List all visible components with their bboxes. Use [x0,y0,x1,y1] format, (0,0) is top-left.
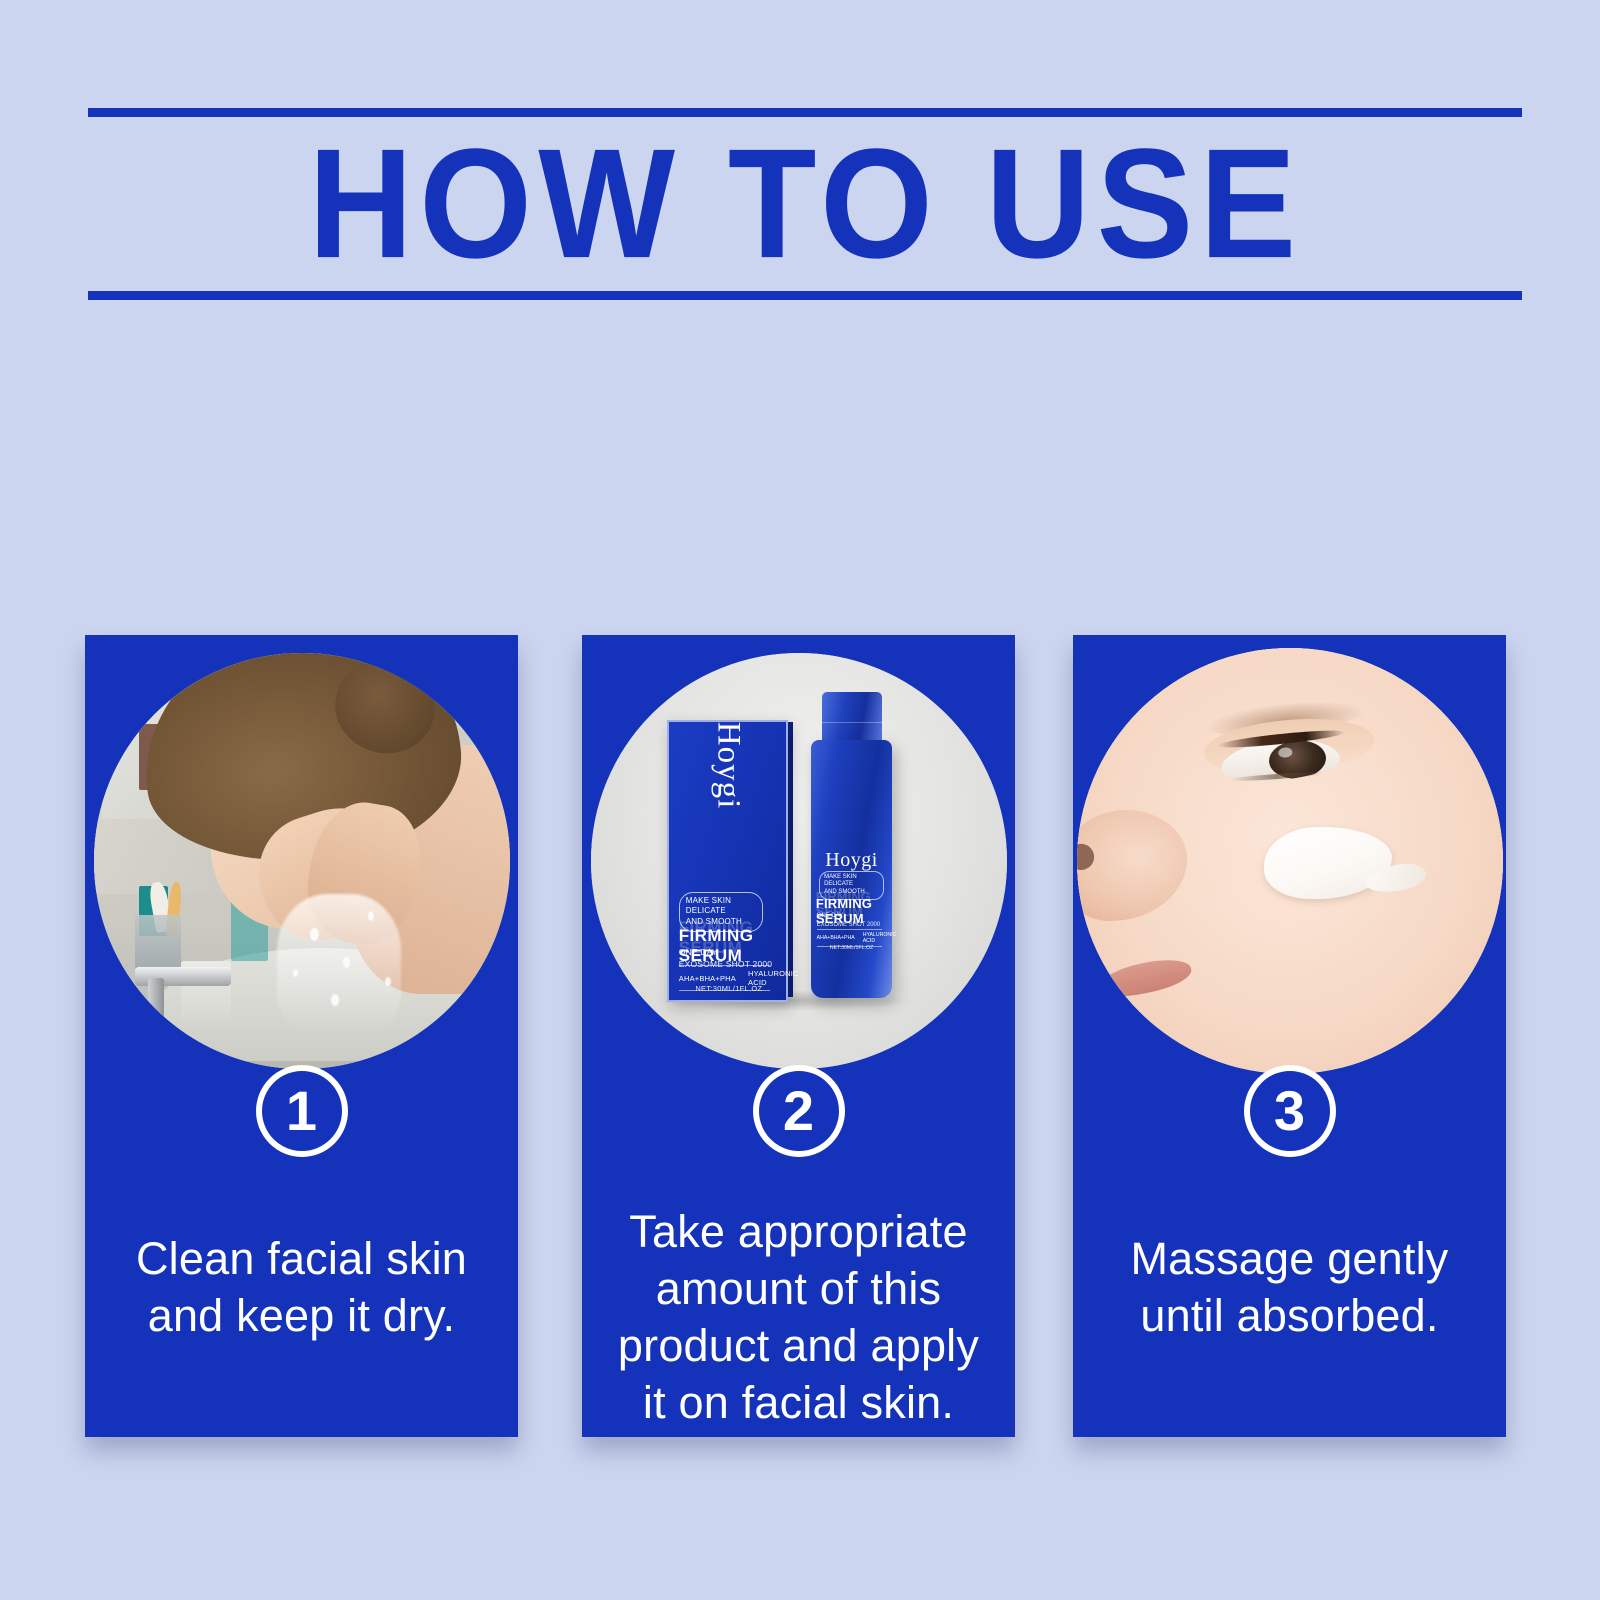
step-caption-3: Massage gently until absorbed. [1087,1230,1492,1344]
page-title: HOW TO USE [88,135,1522,273]
step-card-1[interactable]: 1 Clean facial skin and keep it dry. [85,635,518,1437]
step-number-badge-1: 1 [256,1065,348,1157]
product-box-net: NET:30ML/1FL.OZ [679,984,779,993]
bottle-subtitle: ONE DAY EXOSOME SHOT 2000 [817,912,888,929]
step-caption-1: Clean facial skin and keep it dry. [99,1230,504,1344]
step-image-2: Hoygi MAKE SKIN DELICATE AND SMOOTH FIRM… [586,648,1012,1074]
step-number-2: 2 [783,1083,814,1139]
step-image-1 [89,648,515,1074]
step-card-2[interactable]: Hoygi MAKE SKIN DELICATE AND SMOOTH FIRM… [582,635,1015,1437]
step-number-badge-3: 3 [1244,1065,1336,1157]
bottle-net: NET:30ML/1FL.OZ [816,945,887,951]
product-illustration: Hoygi MAKE SKIN DELICATE AND SMOOTH FIRM… [591,653,1007,1069]
step-card-3[interactable]: 3 Massage gently until absorbed. [1073,635,1506,1437]
step-number-1: 1 [286,1083,317,1139]
steps-container: 1 Clean facial skin and keep it dry. Hoy… [85,420,1509,1440]
product-box-logo: Hoygi [709,721,746,809]
page-header: HOW TO USE [88,108,1522,300]
product-box: Hoygi MAKE SKIN DELICATE AND SMOOTH FIRM… [667,720,787,1003]
step-number-3: 3 [1274,1083,1305,1139]
step-caption-2: Take appropriate amount of this product … [596,1203,1001,1432]
bottle-logo: Hoygi [811,849,892,872]
face-cream-illustration [1077,648,1503,1074]
product-bottle: Hoygi MAKE SKIN DELICATE AND SMOOTH FIRM… [811,740,892,998]
header-divider-top [88,108,1522,117]
header-divider-bottom [88,291,1522,300]
step-number-badge-2: 2 [753,1065,845,1157]
page-title-text: HOW TO USE [308,126,1302,282]
bottle-ingredients: AHA+BHA+PHA HYALURONIC ACID [817,929,882,947]
step-image-3 [1077,648,1503,1074]
washing-face-illustration [94,653,510,1069]
